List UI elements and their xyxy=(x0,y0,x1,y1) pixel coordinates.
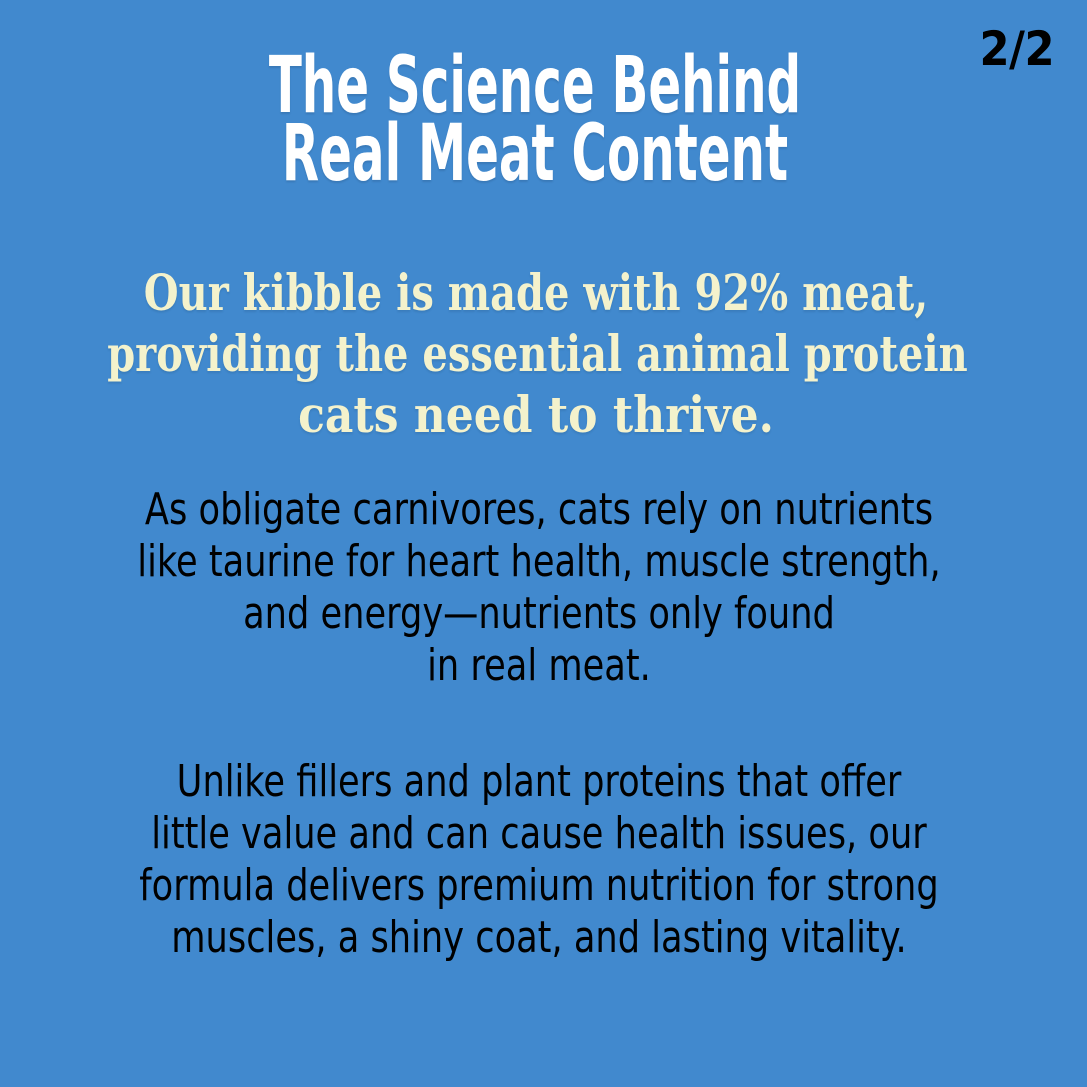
body-paragraph-1-line-3: and energy—nutrients only found xyxy=(108,588,970,640)
lead-paragraph: Our kibble is made with 92% meat, provid… xyxy=(0,262,1072,445)
lead-paragraph-line-2: providing the essential animal protein xyxy=(107,323,965,384)
body-paragraph-2-line-1: Unlike fillers and plant proteins that o… xyxy=(108,756,970,808)
body-paragraph-1: As obligate carnivores, cats rely on nut… xyxy=(0,484,1078,692)
page-title-line-2: Real Meat Content xyxy=(203,120,866,188)
body-paragraph-2-line-2: little value and can cause health issues… xyxy=(108,808,970,860)
body-paragraph-2: Unlike fillers and plant proteins that o… xyxy=(0,756,1078,964)
page-title: The Science Behind Real Meat Content xyxy=(0,52,1070,188)
body-paragraph-1-line-2: like taurine for heart health, muscle st… xyxy=(108,536,970,588)
body-paragraph-2-line-3: formula delivers premium nutrition for s… xyxy=(108,860,970,912)
body-paragraph-1-line-1: As obligate carnivores, cats rely on nut… xyxy=(108,484,970,536)
body-paragraph-1-line-4: in real meat. xyxy=(108,640,970,692)
slide-canvas: 2/2 The Science Behind Real Meat Content… xyxy=(0,0,1087,1087)
lead-paragraph-line-3: cats need to thrive. xyxy=(64,384,1007,445)
body-text: As obligate carnivores, cats rely on nut… xyxy=(0,484,1078,964)
lead-paragraph-line-1: Our kibble is made with 92% meat, xyxy=(107,262,965,323)
body-paragraph-2-line-4: muscles, a shiny coat, and lasting vital… xyxy=(108,912,970,964)
